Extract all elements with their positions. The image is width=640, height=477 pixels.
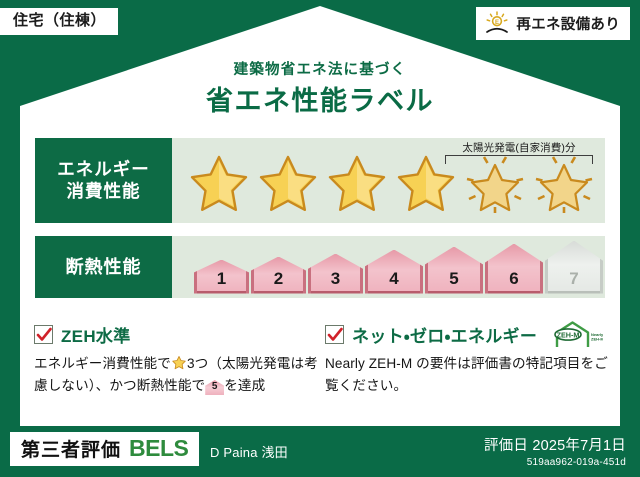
insulation-grade-7: 7 (545, 241, 603, 294)
insulation-grades-panel: 1 2 3 4 5 6 7 (172, 236, 605, 298)
energy-star-filled (186, 151, 252, 215)
insulation-grade-2: 2 (251, 257, 306, 294)
energy-consumption-label: エネルギー 消費性能 (35, 138, 172, 223)
energy-star-rating (172, 151, 597, 215)
insulation-grade-3: 3 (308, 254, 363, 294)
evaluation-info: 評価日 2025年7月1日 519aa962-019a-451d (484, 434, 626, 468)
zeh-desc-part3: を達成 (224, 378, 265, 393)
insulation-grade-4: 4 (365, 250, 423, 294)
net-zero-energy-block: ネット・ゼロ・エネルギー ZEH-M Nearly ZEH-M Nearly Z… (325, 322, 615, 397)
insulation-grade-6: 6 (485, 244, 543, 294)
energy-performance-label: 住宅（住棟） E 再エネ設備あり 建築物省エネ法に基づく 省エネ性能ラベル (0, 0, 640, 477)
net-zero-energy-checkbox[interactable] (325, 325, 344, 344)
net-zero-energy-title: ネット・ゼロ・エネルギー (352, 322, 537, 347)
insulation-performance-row: 断熱性能 1 2 3 4 5 6 7 (35, 236, 605, 298)
zeh-m-logo-icon: ZEH-M Nearly ZEH-M (549, 321, 599, 348)
evaluation-date: 評価日 2025年7月1日 (484, 434, 626, 455)
zeh-desc-part1: エネルギー消費性能で (34, 356, 171, 371)
energy-star-filled (393, 151, 459, 215)
insulation-grade-1: 1 (194, 260, 249, 294)
insulation-grade-5: 5 (425, 247, 483, 294)
svg-text:ZEH-M: ZEH-M (591, 336, 603, 341)
property-name: D Paina 浅田 (210, 442, 288, 461)
bels-jp-label: 第三者評価 (21, 435, 121, 462)
building-type-tag: 住宅（住棟） (0, 8, 118, 35)
net-zero-energy-description: Nearly ZEH-M の要件は評価書の特記項目をご覧ください。 (325, 353, 615, 397)
svg-text:E: E (495, 20, 499, 26)
zeh-standard-description: エネルギー消費性能で3つ（太陽光発電は考慮しない）、かつ断熱性能で5を達成 (34, 353, 319, 397)
renewable-equipment-badge: E 再エネ設備あり (476, 7, 630, 40)
bels-third-party-badge: 第三者評価 BELS (10, 432, 199, 466)
zeh-standard-title: ZEH水準 (61, 322, 131, 347)
inline-star-icon (171, 355, 187, 370)
energy-consumption-row: エネルギー 消費性能 太陽光発電(自家消費)分 (35, 138, 605, 223)
evaluation-date-label: 評価日 (484, 438, 528, 454)
label-subtitle: 建築物省エネ法に基づく (0, 58, 640, 79)
evaluation-date-value: 2025年7月1日 (532, 438, 626, 454)
renewable-badge-label: 再エネ設備あり (516, 13, 620, 34)
energy-star-filled (255, 151, 321, 215)
sun-solar-icon: E (484, 11, 510, 35)
bels-en-label: BELS (129, 435, 188, 462)
zeh-standard-header: ZEH水準 (34, 322, 319, 346)
page-title: 省エネ性能ラベル (0, 79, 640, 118)
svg-text:ZEH-M: ZEH-M (557, 330, 580, 339)
energy-star-solar (531, 151, 597, 215)
inline-grade-value: 5 (212, 381, 218, 392)
evaluation-id: 519aa962-019a-451d (484, 457, 626, 468)
energy-label-line2: 消費性能 (67, 181, 141, 203)
inline-grade-house-icon: 5 (205, 380, 224, 395)
net-zero-energy-header: ネット・ゼロ・エネルギー ZEH-M Nearly ZEH-M (325, 322, 615, 346)
energy-stars-panel: 太陽光発電(自家消費)分 (172, 138, 605, 223)
energy-label-line1: エネルギー (57, 159, 150, 181)
insulation-performance-label: 断熱性能 (35, 236, 172, 298)
energy-star-filled (324, 151, 390, 215)
energy-star-solar (462, 151, 528, 215)
zeh-standard-block: ZEH水準 エネルギー消費性能で3つ（太陽光発電は考慮しない）、かつ断熱性能で5… (34, 322, 319, 397)
zeh-standard-checkbox[interactable] (34, 325, 53, 344)
insulation-grade-scale: 1 2 3 4 5 6 7 (172, 241, 603, 294)
